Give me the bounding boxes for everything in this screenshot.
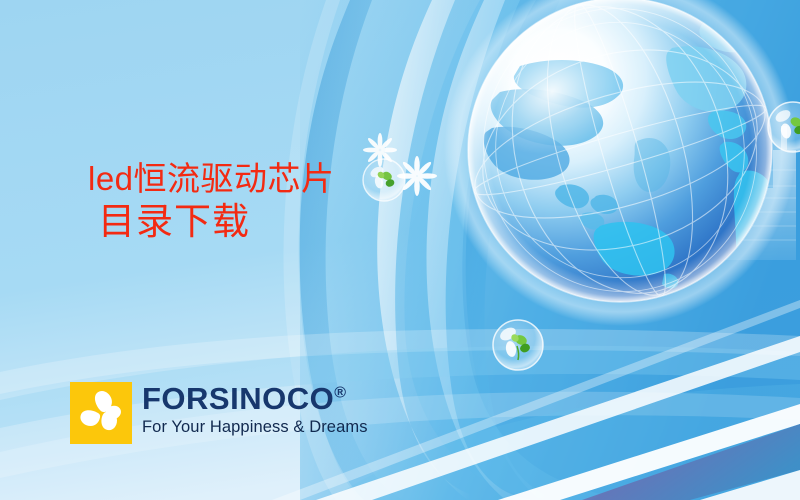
presentation-slide: led恒流驱动芯片 目录下载 FORSINOCO® For Your Happi… (0, 0, 800, 500)
registered-trademark-mark: ® (334, 385, 346, 402)
four-petal-pinwheel-icon (70, 382, 132, 444)
logo-wordmark: FORSINOCO® (142, 383, 368, 414)
logo-mark-tile (70, 382, 132, 444)
headline-line-2: 目录下载 (98, 204, 335, 241)
headline-line-1: led恒流驱动芯片 (88, 162, 335, 195)
logo-tagline: For Your Happiness & Dreams (142, 419, 368, 436)
bubble-sprout (493, 320, 543, 370)
logo-text-block: FORSINOCO® For Your Happiness & Dreams (142, 382, 368, 436)
brand-logo[interactable]: FORSINOCO® For Your Happiness & Dreams (70, 382, 368, 444)
bubble-pinwheel (363, 159, 405, 201)
slide-headline: led恒流驱动芯片 目录下载 (88, 162, 335, 241)
logo-wordmark-text: FORSINOCO (142, 381, 334, 416)
